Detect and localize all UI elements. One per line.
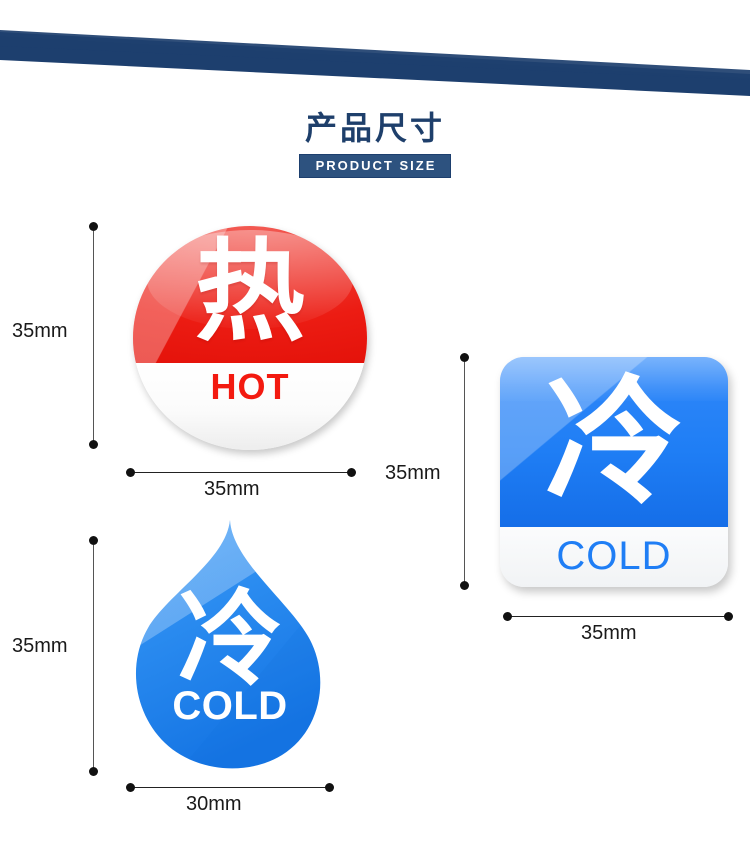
dim-dot-hot-width-left (126, 468, 135, 477)
dim-dot-drop-width-left (126, 783, 135, 792)
dim-label-drop-height: 35mm (12, 635, 68, 658)
dim-label-drop-width: 30mm (186, 793, 242, 816)
hot-label-cn: 热 (133, 232, 367, 352)
page-title-cn: 产品尺寸 (0, 108, 750, 148)
dim-label-hot-width: 35mm (204, 478, 260, 501)
hot-label-en: HOT (133, 367, 367, 407)
dim-dot-square-width-right (724, 612, 733, 621)
sticker-hot-circle[interactable]: 热 HOT (133, 226, 367, 450)
dim-dot-hot-width-right (347, 468, 356, 477)
dim-dot-drop-height-top (89, 536, 98, 545)
dim-dot-hot-height-top (89, 222, 98, 231)
banner-ribbon-icon (0, 0, 750, 100)
dim-dot-drop-height-bottom (89, 767, 98, 776)
square-label-cn: 冷 (500, 363, 728, 523)
dim-line-square-height (464, 362, 465, 584)
page-title-block: 产品尺寸 PRODUCT SIZE (0, 108, 750, 178)
dim-dot-square-height-bottom (460, 581, 469, 590)
square-label-en: COLD (500, 533, 728, 579)
dim-line-hot-height (93, 231, 94, 444)
dim-line-hot-width (131, 472, 353, 473)
sticker-cold-teardrop[interactable]: 冷 COLD (120, 518, 340, 770)
dim-line-drop-height (93, 545, 94, 771)
dim-line-drop-width (131, 787, 331, 788)
header-banner (0, 0, 750, 100)
dim-label-square-width: 35mm (581, 622, 637, 645)
dim-dot-hot-height-bottom (89, 440, 98, 449)
sticker-cold-square[interactable]: 冷 COLD (500, 357, 728, 587)
product-size-page: 产品尺寸 PRODUCT SIZE 热 HOT 35mm 35mm 冷 COLD… (0, 0, 750, 863)
dim-dot-square-width-left (503, 612, 512, 621)
teardrop-label-cn: 冷 (120, 580, 340, 698)
page-title-badge: PRODUCT SIZE (299, 154, 452, 178)
dim-line-square-width (508, 616, 730, 617)
teardrop-label-en: COLD (120, 683, 340, 729)
dim-label-square-height: 35mm (385, 462, 441, 485)
dim-label-hot-height: 35mm (12, 320, 68, 343)
teardrop-text-group: 冷 COLD (120, 518, 340, 770)
dim-dot-drop-width-right (325, 783, 334, 792)
dim-dot-square-height-top (460, 353, 469, 362)
